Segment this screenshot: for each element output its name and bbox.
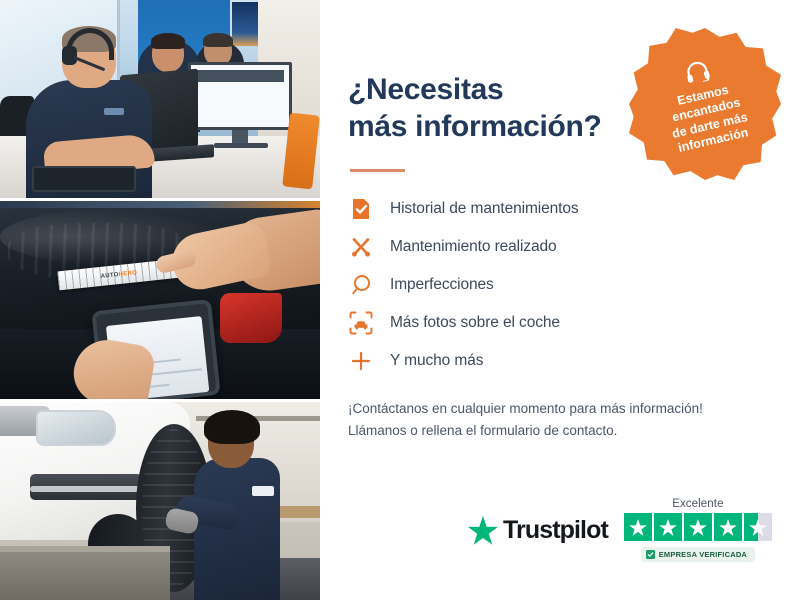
- photo-column: AUTOHERO: [0, 0, 320, 600]
- photo3-mechanic-torso: [194, 458, 280, 600]
- feature-label: Mantenimiento realizado: [390, 238, 557, 256]
- star-filled: [624, 513, 652, 541]
- trustpilot-rating-label: Excelente: [672, 498, 723, 510]
- photo1-monitor-stand: [232, 130, 248, 144]
- photo1-agent-polo-logo: [104, 108, 124, 115]
- status-badge: EMPRESA VERIFICADA: [641, 547, 755, 562]
- list-item: Más fotos sobre el coche: [348, 304, 769, 342]
- page-title: ¿Necesitas más información?: [348, 72, 638, 145]
- document-check-icon: [348, 196, 374, 222]
- star-half: [744, 513, 772, 541]
- star-filled: [654, 513, 682, 541]
- car-frame-icon: [348, 310, 374, 336]
- starburst-badge: Estamos encantados de darte más informac…: [629, 28, 781, 180]
- photo1-colleague-far-hair: [203, 33, 233, 47]
- list-item: Historial de mantenimientos: [348, 190, 769, 228]
- photo1-tablet-on-desk: [32, 166, 136, 192]
- feature-label: Historial de mantenimientos: [390, 200, 579, 218]
- trustpilot-star-icon: [468, 516, 498, 545]
- list-item: Mantenimiento realizado: [348, 228, 769, 266]
- photo2-tail-light: [220, 293, 282, 343]
- content-panel: ¿Necesitas más información? Historial de…: [320, 0, 799, 600]
- plus-icon: [348, 348, 374, 374]
- magnifier-icon: [348, 272, 374, 298]
- info-banner: AUTOHERO: [0, 0, 799, 600]
- contact-copy-line-2: Llámanos o rellena el formulario de cont…: [348, 420, 768, 442]
- title-divider: [350, 169, 405, 172]
- tools-cross-icon: [348, 234, 374, 260]
- list-item: Y mucho más: [348, 342, 769, 380]
- list-item: Imperfecciones: [348, 266, 769, 304]
- feature-label: Y mucho más: [390, 352, 483, 370]
- trustpilot-rating: Excelente: [624, 498, 772, 562]
- feature-label: Más fotos sobre el coche: [390, 314, 560, 332]
- contact-copy-line-1: ¡Contáctanos en cualquier momento para m…: [348, 398, 768, 420]
- photo1-monitor-base: [214, 143, 268, 148]
- photo3-chrome-trim: [30, 486, 142, 492]
- headline-line-1: ¿Necesitas: [348, 72, 638, 109]
- photo1-monitor: [188, 62, 292, 130]
- photo3-lift-platform: [0, 552, 170, 600]
- photo-inspection-ruler: AUTOHERO: [0, 201, 320, 399]
- verified-check-icon: [646, 550, 655, 559]
- trustpilot-widget[interactable]: Trustpilot Excelente: [468, 498, 772, 562]
- photo2-top-strip: [0, 201, 320, 208]
- photo3-headlight: [36, 410, 116, 446]
- contact-copy: ¡Contáctanos en cualquier momento para m…: [348, 398, 768, 442]
- feature-label: Imperfecciones: [390, 276, 494, 294]
- trustpilot-wordmark: Trustpilot: [503, 516, 608, 545]
- photo1-colleague-hair: [151, 33, 185, 49]
- trustpilot-logo: Trustpilot: [468, 516, 608, 545]
- star-filled: [714, 513, 742, 541]
- photo3-mechanic-polo-logo: [252, 486, 274, 496]
- photo-call-center-agent: [0, 0, 320, 198]
- photo3-mechanic-hair: [204, 410, 260, 444]
- star-filled: [684, 513, 712, 541]
- headline-line-2: más información?: [348, 109, 638, 146]
- feature-list: Historial de mantenimientos M: [348, 190, 769, 380]
- photo-mechanic-tire: [0, 402, 320, 600]
- verified-label: EMPRESA VERIFICADA: [659, 550, 747, 559]
- trustpilot-stars: [624, 513, 772, 541]
